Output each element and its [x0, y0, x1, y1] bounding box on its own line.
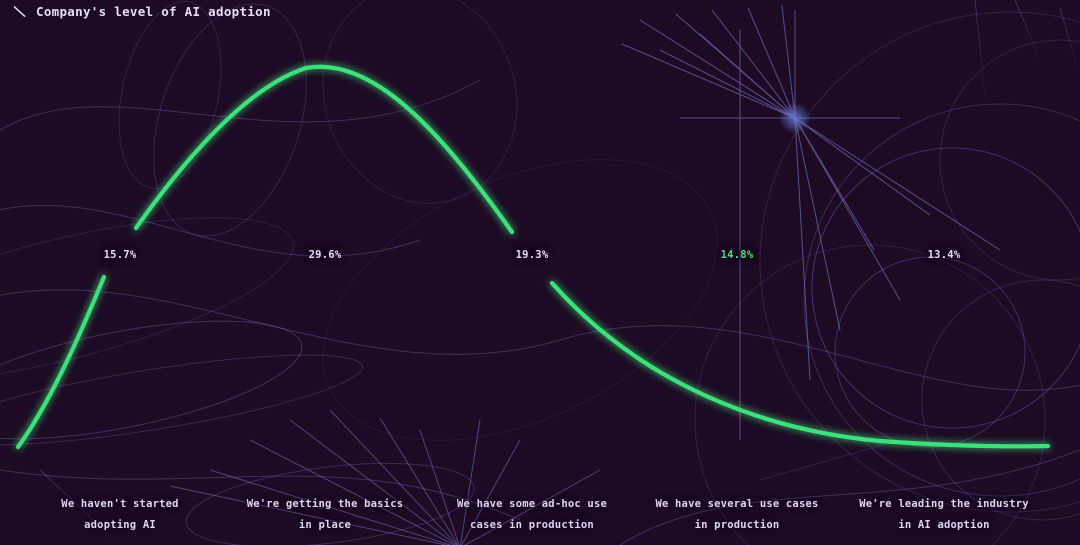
decoration-circles — [695, 12, 1080, 545]
category-label-line-1: We're getting the basics — [210, 494, 440, 515]
value-label-1[interactable]: 29.6% — [309, 249, 342, 261]
value-label-group: 15.7% 29.6% 19.3% 14.8% 13.4% — [0, 0, 1080, 545]
value-label-0[interactable]: 15.7% — [104, 249, 137, 261]
diagonal-slash-icon — [12, 4, 27, 19]
category-label-2[interactable]: We have some ad-hoc use cases in product… — [417, 494, 647, 536]
category-label-line-2: cases in production — [417, 515, 647, 536]
value-label-3[interactable]: 14.8% — [721, 249, 754, 261]
category-label-line-1: We have several use cases — [622, 494, 852, 515]
category-label-line-2: in place — [210, 515, 440, 536]
category-label-group: We haven't started adopting AI We're get… — [0, 0, 1080, 545]
chart-header: Company's level of AI adoption — [12, 4, 271, 19]
decoration-ellipses — [0, 0, 761, 545]
category-label-line-1: We have some ad-hoc use — [417, 494, 647, 515]
curve-segment-2 — [306, 67, 512, 232]
category-label-4[interactable]: We're leading the industry in AI adoptio… — [829, 494, 1059, 536]
category-label-line-1: We haven't started — [5, 494, 235, 515]
decoration-strays — [40, 0, 1078, 545]
page-title: Company's level of AI adoption — [36, 4, 271, 19]
category-label-3[interactable]: We have several use cases in production — [622, 494, 852, 536]
decoration-burst-upper — [622, 6, 1000, 440]
category-label-line-2: in production — [622, 515, 852, 536]
category-label-line-1: We're leading the industry — [829, 494, 1059, 515]
value-label-4[interactable]: 13.4% — [928, 249, 961, 261]
category-label-0[interactable]: We haven't started adopting AI — [5, 494, 235, 536]
category-label-line-2: in AI adoption — [829, 515, 1059, 536]
curve-segment-3 — [552, 283, 880, 441]
decoration-burst-core — [779, 102, 811, 134]
category-label-line-2: adopting AI — [5, 515, 235, 536]
chart-canvas: Company's level of AI adoption 15.7% 29.… — [0, 0, 1080, 545]
curve-segment-0 — [18, 277, 104, 447]
adoption-curve — [0, 0, 1080, 545]
curve-segment-1 — [136, 68, 306, 228]
curve-segment-4 — [880, 441, 1048, 446]
background-decoration — [0, 0, 1080, 545]
category-label-1[interactable]: We're getting the basics in place — [210, 494, 440, 536]
value-label-2[interactable]: 19.3% — [516, 249, 549, 261]
decoration-arcs — [0, 80, 1080, 545]
